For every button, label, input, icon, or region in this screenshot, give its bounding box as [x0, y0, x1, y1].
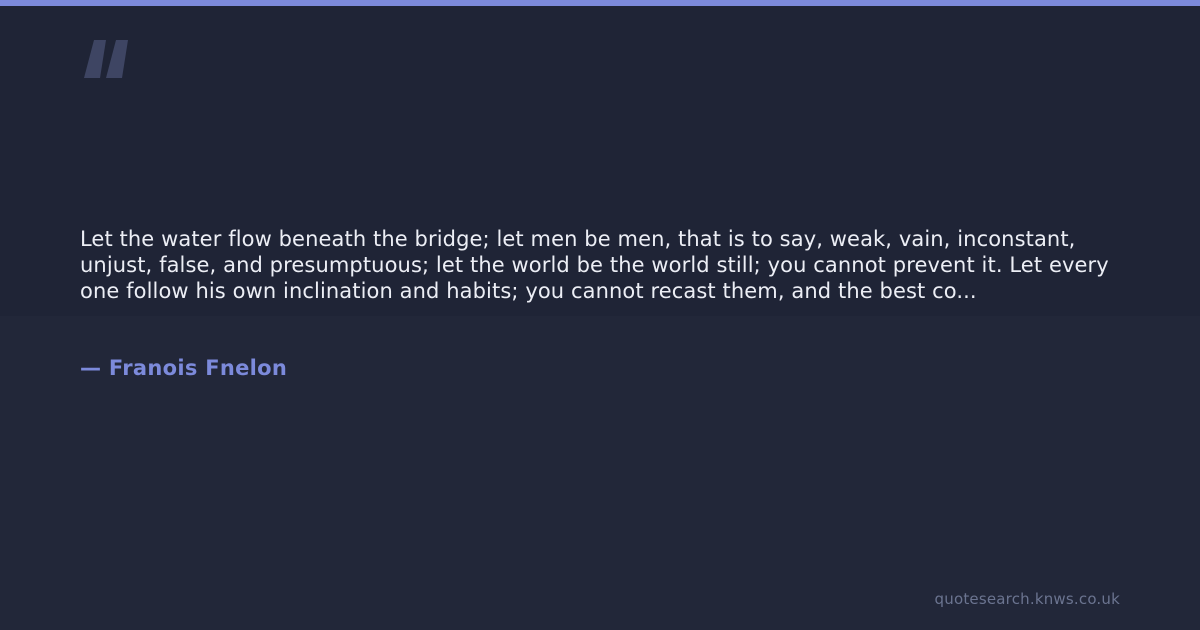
top-accent-bar — [0, 0, 1200, 6]
quote-card: Let the water flow beneath the bridge; l… — [0, 0, 1200, 630]
quote-text: Let the water flow beneath the bridge; l… — [80, 226, 1124, 304]
quote-author: — Franois Fnelon — [80, 355, 287, 381]
source-watermark: quotesearch.knws.co.uk — [935, 590, 1120, 609]
open-quote-icon — [80, 24, 140, 88]
